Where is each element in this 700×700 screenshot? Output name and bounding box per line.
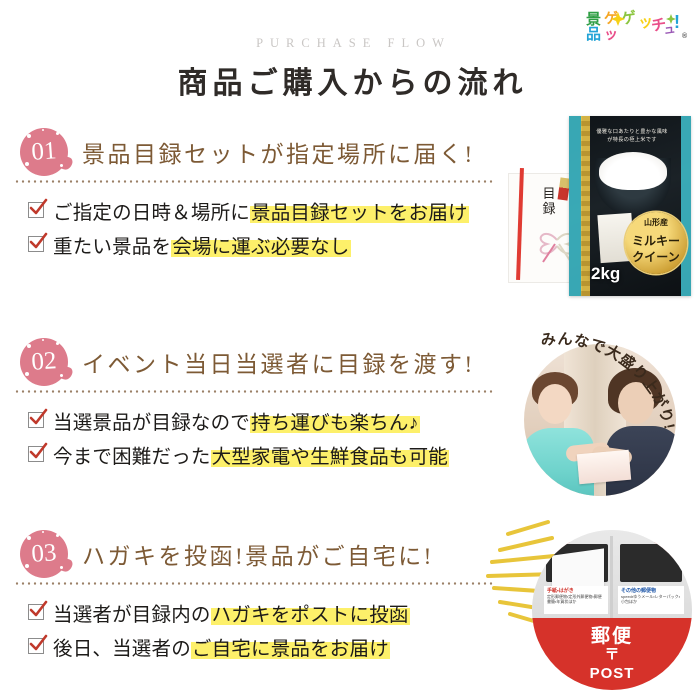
step-title: イベント当日当選者に目録を渡す! [82, 345, 475, 379]
package-copy: 優雅な口あたりと豊かな風味が特長の極上米です [595, 128, 669, 144]
step03-artwork: 手紙・はがき定形郵便物・定形外郵便物・郵便書簡・年賀状ほか その他の郵便物spe… [452, 514, 700, 700]
bullet-highlight: ご自宅に景品をお届け [191, 638, 390, 660]
page-title: 商品ご購入からの流れ [0, 58, 700, 102]
cooked-rice [599, 152, 667, 190]
package-weight: 2kg [591, 264, 620, 284]
postbox-label-left: 手紙・はがき定形郵便物・定形外郵便物・郵便書簡・年賀状ほか [544, 586, 608, 614]
bullet-highlight: 会場に運ぶ必要なし [171, 236, 350, 258]
step-number: 01 [18, 126, 69, 177]
package-accent [681, 116, 691, 296]
postbox-label-right: その他の郵便物speed・ゆうメール・レターパック・小包ほか [618, 586, 684, 614]
bullet-text: 当選景品が目録なので持ち運びも楽ちん♪ [53, 406, 420, 435]
check-icon [28, 638, 44, 654]
bullet-lead: 当選景品が目録なので [53, 412, 250, 434]
label-body: speed・ゆうメール・レターパック・小包ほか [621, 594, 680, 604]
bullet-highlight: 大型家電や生鮮食品も可能 [211, 446, 449, 468]
check-icon [28, 412, 44, 428]
bullet-lead: 後日、当選者の [53, 638, 191, 660]
bullet-highlight: ハガキをポストに投函 [211, 604, 410, 626]
bullet-text: 今まで困難だった大型家電や生鮮食品も可能 [53, 440, 449, 469]
bullet-lead: 今まで困難だった [53, 446, 211, 468]
caption-text: みんなで大盛り上がり! [540, 331, 678, 432]
seal-origin: 山形産 [625, 217, 687, 228]
seal-brand-2: クイーン [625, 248, 687, 265]
svg-text:ゲ: ゲ [620, 8, 637, 28]
bullet-highlight: 景品目録セットをお届け [250, 202, 469, 224]
bullet-lead: 重たい景品を [53, 236, 171, 258]
step-number: 03 [18, 528, 69, 579]
label-body: 定形郵便物・定形外郵便物・郵便書簡・年賀状ほか [547, 594, 602, 604]
check-icon [28, 604, 44, 620]
product-seal: 山形産 ミルキー クイーン [625, 212, 687, 274]
step-badge-02: 02 [18, 336, 74, 388]
step02-artwork: みんなで大盛り上がり! [516, 306, 700, 502]
bullet-text: 当選者が目録内のハガキをポストに投函 [53, 598, 410, 627]
seal-brand-1: ミルキー [625, 232, 687, 249]
noshi-label: 目録 [541, 186, 557, 216]
bullet-lead: ご指定の日時＆場所に [53, 202, 250, 224]
postbox-slot-right [620, 544, 682, 582]
bullet-text: ご指定の日時＆場所に景品目録セットをお届け [53, 196, 469, 225]
package-accent [581, 116, 590, 296]
step-badge-03: 03 [18, 528, 74, 580]
step-title: 景品目録セットが指定場所に届く! [82, 135, 475, 169]
check-icon [28, 236, 44, 252]
svg-text:!: ! [674, 12, 680, 32]
step-title: ハガキを投函!景品がご自宅に! [82, 537, 434, 571]
postal-mark-icon: 〒 [532, 643, 692, 664]
bullet-text: 重たい景品を会場に運ぶ必要なし [53, 230, 351, 259]
bullet-lead: 当選者が目録内の [53, 604, 211, 626]
noshi-red-stripe [516, 168, 524, 280]
step01-artwork: 目録 優雅な口あたりと豊かな風味が特長の極上米です 山形産 ミルキー クイーン … [505, 116, 700, 301]
rice-product-package: 優雅な口あたりと豊かな風味が特長の極上米です 山形産 ミルキー クイーン 2kg [569, 116, 691, 296]
postbox-en-text: POST [532, 665, 692, 682]
eyebrow-label: PURCHASE FLOW [0, 36, 700, 51]
bullet-highlight: 持ち運びも楽ちん♪ [250, 412, 420, 434]
postbox-photo: 手紙・はがき定形郵便物・定形外郵便物・郵便書簡・年賀状ほか その他の郵便物spe… [532, 530, 692, 690]
step-number: 02 [18, 336, 69, 387]
postbox-divider [610, 536, 613, 622]
photo-caption: みんなで大盛り上がり! [516, 306, 700, 466]
step-badge-01: 01 [18, 126, 74, 178]
check-icon [28, 446, 44, 462]
bullet-text: 後日、当選者のご自宅に景品をお届け [53, 632, 390, 661]
check-icon [28, 202, 44, 218]
